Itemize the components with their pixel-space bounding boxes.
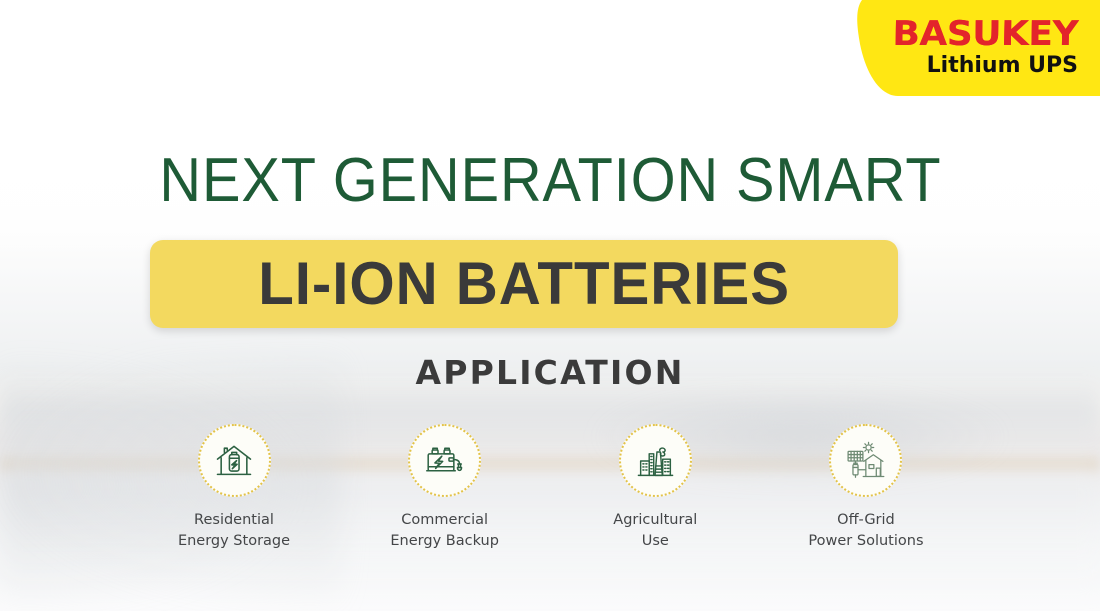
promo-banner: BASUKEY Lithium UPS NEXT GENERATION SMAR… <box>0 0 1100 611</box>
caption-offgrid: Off-Grid Power Solutions <box>808 510 923 552</box>
icon-circle-commercial <box>408 424 481 497</box>
caption-residential: Residential Energy Storage <box>178 510 290 552</box>
icon-circle-agricultural <box>619 424 692 497</box>
caption-line-2: Energy Storage <box>178 531 290 552</box>
factory-smokestack-icon <box>633 439 678 483</box>
application-item-commercial[interactable]: Commercial Energy Backup <box>361 424 529 574</box>
caption-line-2: Energy Backup <box>390 531 499 552</box>
section-label-row: APPLICATION <box>0 353 1100 392</box>
car-battery-plug-icon <box>422 439 468 483</box>
caption-line-1: Residential <box>178 510 290 531</box>
caption-line-1: Commercial <box>390 510 499 531</box>
section-label-application: APPLICATION <box>415 353 684 392</box>
subheadline-banner: LI-ION BATTERIES <box>150 240 898 328</box>
headline-text: NEXT GENERATION SMART <box>159 150 941 212</box>
application-item-agricultural[interactable]: Agricultural Use <box>571 424 739 574</box>
brand-wordmark: BASUKEY <box>892 17 1078 51</box>
brand-logo-badge[interactable]: BASUKEY Lithium UPS <box>850 0 1100 96</box>
icon-circle-residential <box>198 424 271 497</box>
caption-line-2: Power Solutions <box>808 531 923 552</box>
caption-line-2: Use <box>613 531 697 552</box>
caption-agricultural: Agricultural Use <box>613 510 697 552</box>
application-items: Residential Energy Storage <box>150 424 950 574</box>
brand-tagline: Lithium UPS <box>927 55 1078 77</box>
caption-line-1: Agricultural <box>613 510 697 531</box>
subheadline-text: LI-ION BATTERIES <box>258 254 790 314</box>
headline-row: NEXT GENERATION SMART <box>0 150 1100 212</box>
application-item-offgrid[interactable]: Off-Grid Power Solutions <box>782 424 950 574</box>
application-item-residential[interactable]: Residential Energy Storage <box>150 424 318 574</box>
caption-commercial: Commercial Energy Backup <box>390 510 499 552</box>
logo-text-wrap: BASUKEY Lithium UPS <box>850 0 1100 96</box>
icon-circle-offgrid <box>829 424 902 497</box>
solar-panel-house-icon <box>842 439 889 483</box>
caption-line-1: Off-Grid <box>808 510 923 531</box>
house-battery-icon <box>212 439 256 483</box>
